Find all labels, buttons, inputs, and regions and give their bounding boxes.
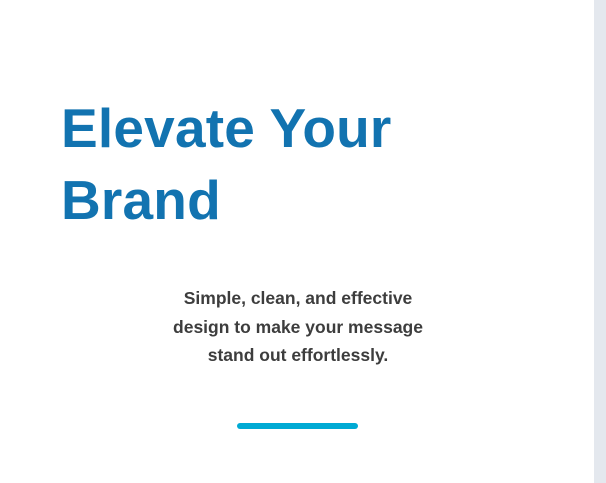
hero-subtitle-text: Simple, clean, and effective design to m…: [98, 284, 498, 370]
page-title: Elevate Your Brand: [61, 92, 561, 236]
page-background-gutter: [594, 0, 606, 483]
accent-divider: [237, 423, 358, 429]
hero-section-viewport: Elevate Your Brand Simple, clean, and ef…: [0, 0, 606, 483]
hero-content-panel: Elevate Your Brand Simple, clean, and ef…: [0, 0, 594, 483]
